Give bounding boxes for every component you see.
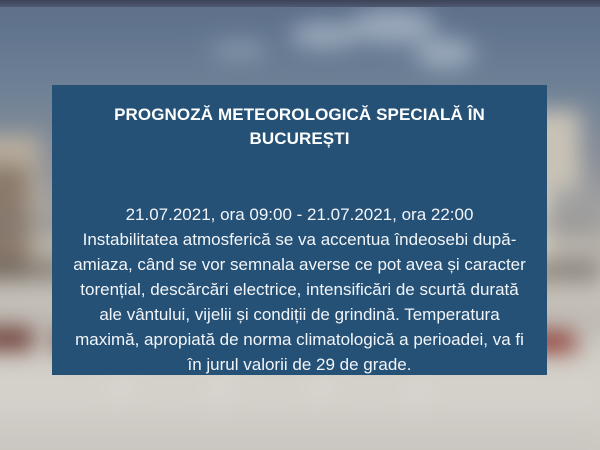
warning-title: PROGNOZĂ METEOROLOGICĂ SPECIALĂ ÎN BUCUR…	[76, 103, 523, 151]
cloud-shape	[210, 40, 268, 60]
warning-validity-period: 21.07.2021, ora 09:00 - 21.07.2021, ora …	[126, 205, 474, 224]
weather-warning-panel: PROGNOZĂ METEOROLOGICĂ SPECIALĂ ÎN BUCUR…	[52, 85, 547, 375]
warning-body: 21.07.2021, ora 09:00 - 21.07.2021, ora …	[70, 177, 529, 377]
parked-car-shape	[0, 328, 34, 350]
cloud-shape	[350, 8, 436, 44]
warning-description: Instabilitatea atmosferică se va accentu…	[73, 230, 526, 374]
top-edge-band	[0, 0, 600, 7]
cloud-shape	[415, 38, 475, 68]
weather-warning-screenshot: PROGNOZĂ METEOROLOGICĂ SPECIALĂ ÎN BUCUR…	[0, 0, 600, 450]
